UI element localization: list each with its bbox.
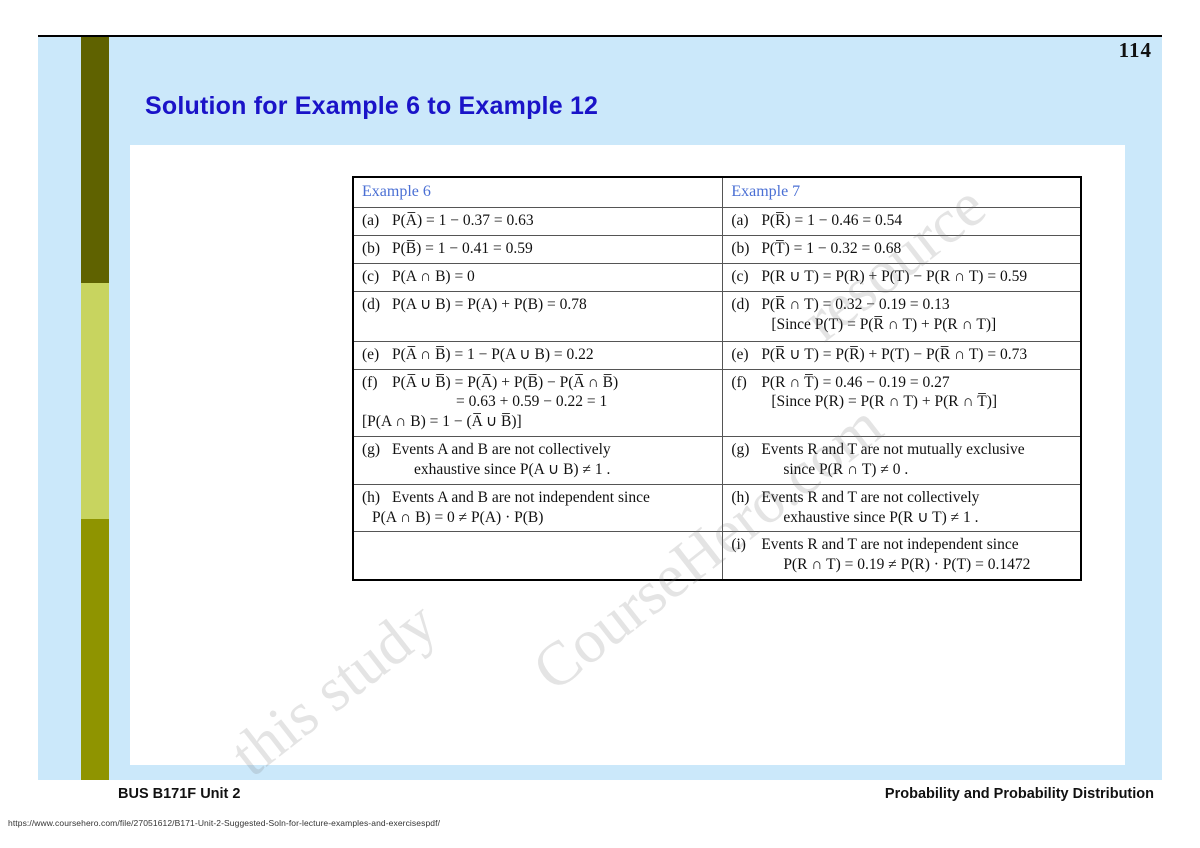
formula-line: P(A̅ ∩ B̅) = 1 − P(A ∪ B) = 0.22 (392, 346, 594, 363)
source-url-text: https://www.coursehero.com/file/27051612… (8, 818, 440, 828)
footer-course-label: BUS B171F Unit 2 (118, 786, 240, 802)
text-line: exhaustive since P(A ∪ B) ≠ 1 . (392, 460, 716, 480)
table-row: (i) Events R and T are not independent s… (353, 532, 1081, 580)
formula-line: [P(A ∩ B) = 1 − (A̅ ∪ B̅)] (362, 412, 716, 432)
column-header-example-6: Example 6 (353, 177, 723, 208)
cell-left-g: (g) Events A and B are not collectively … (353, 437, 723, 485)
table-row: (a) P(A̅) = 1 − 0.37 = 0.63 (a) P(R̅) = … (353, 208, 1081, 236)
table-row: (h) Events A and B are not independent s… (353, 484, 1081, 532)
item-label: (d) (362, 295, 392, 315)
cell-left-f: (f) P(A̅ ∪ B̅) = P(A̅) + P(B̅) − P(A̅ ∩ … (353, 369, 723, 436)
page-title: Solution for Example 6 to Example 12 (145, 92, 598, 121)
top-rule-divider (38, 35, 1162, 37)
item-label: (i) (731, 535, 761, 555)
formula-line: P(A ∪ B) = P(A) + P(B) = 0.78 (392, 295, 716, 315)
sidebar-bar-middle (81, 283, 109, 519)
text-line: exhaustive since P(R ∪ T) ≠ 1 . (761, 508, 1074, 528)
formula-line: [Since P(R) = P(R ∩ T) + P(R ∩ T̅)] (761, 392, 1074, 412)
cell-left-a: (a) P(A̅) = 1 − 0.37 = 0.63 (353, 208, 723, 236)
footer-topic-label: Probability and Probability Distribution (885, 786, 1154, 802)
formula-line: P(R ∩ T̅) = 0.46 − 0.19 = 0.27 (761, 373, 1074, 393)
content-panel: Example 6 Example 7 (a) P(A̅) = 1 − 0.37… (130, 145, 1125, 765)
table-row: (b) P(B̅) = 1 − 0.41 = 0.59 (b) P(T̅) = … (353, 236, 1081, 264)
cell-left-c: (c) P(A ∩ B) = 0 (353, 264, 723, 292)
formula-line: P(A ∩ B) = 0 ≠ P(A) · P(B) (362, 508, 716, 528)
formula-line: P(B̅) = 1 − 0.41 = 0.59 (392, 240, 533, 257)
cell-right-g: (g) Events R and T are not mutually excl… (723, 437, 1081, 485)
column-header-example-7: Example 7 (723, 177, 1081, 208)
formula-line: P(A̅) = 1 − 0.37 = 0.63 (392, 212, 534, 229)
text-line: Events A and B are not independent since (392, 488, 716, 508)
text-line: Events A and B are not collectively (392, 440, 716, 460)
formula-line: [Since P(T) = P(R̅ ∩ T) + P(R ∩ T)] (761, 315, 1074, 335)
item-label: (c) (362, 267, 392, 287)
item-label: (g) (731, 440, 761, 460)
formula-line: = 0.63 + 0.59 − 0.22 = 1 (392, 392, 716, 412)
cell-left-e: (e) P(A̅ ∩ B̅) = 1 − P(A ∪ B) = 0.22 (353, 341, 723, 369)
cell-left-empty (353, 532, 723, 580)
cell-spacer (392, 315, 716, 337)
item-label: (e) (731, 345, 761, 365)
table-header-row: Example 6 Example 7 (353, 177, 1081, 208)
page-number: 114 (1119, 38, 1152, 63)
item-label: (b) (731, 239, 761, 259)
formula-line: P(R ∩ T) = 0.19 ≠ P(R) · P(T) = 0.1472 (761, 555, 1074, 575)
text-line: Events R and T are not collectively (761, 488, 1074, 508)
formula-line: P(R̅ ∪ T) = P(R̅) + P(T) − P(R̅ ∩ T) = 0… (761, 346, 1027, 363)
item-label: (a) (731, 211, 761, 231)
cell-right-i: (i) Events R and T are not independent s… (723, 532, 1081, 580)
formula-line: P(A ∩ B) = 0 (392, 268, 475, 285)
item-label: (h) (731, 488, 761, 508)
cell-right-a: (a) P(R̅) = 1 − 0.46 = 0.54 (723, 208, 1081, 236)
item-label: (a) (362, 211, 392, 231)
table-row: (f) P(A̅ ∪ B̅) = P(A̅) + P(B̅) − P(A̅ ∩ … (353, 369, 1081, 436)
item-label: (h) (362, 488, 392, 508)
item-label: (f) (731, 373, 761, 393)
item-label: (f) (362, 373, 392, 393)
sidebar-bar-top (81, 37, 109, 283)
cell-left-h: (h) Events A and B are not independent s… (353, 484, 723, 532)
item-label: (c) (731, 267, 761, 287)
item-label: (b) (362, 239, 392, 259)
formula-line: P(R ∪ T) = P(R) + P(T) − P(R ∩ T) = 0.59 (761, 268, 1027, 285)
cell-right-e: (e) P(R̅ ∪ T) = P(R̅) + P(T) − P(R̅ ∩ T)… (723, 341, 1081, 369)
formula-line: P(T̅) = 1 − 0.32 = 0.68 (761, 240, 901, 257)
cell-left-b: (b) P(B̅) = 1 − 0.41 = 0.59 (353, 236, 723, 264)
table-row: (e) P(A̅ ∩ B̅) = 1 − P(A ∪ B) = 0.22 (e)… (353, 341, 1081, 369)
item-label: (d) (731, 295, 761, 315)
cell-right-f: (f) P(R ∩ T̅) = 0.46 − 0.19 = 0.27 [Sinc… (723, 369, 1081, 436)
cell-right-c: (c) P(R ∪ T) = P(R) + P(T) − P(R ∩ T) = … (723, 264, 1081, 292)
solutions-table: Example 6 Example 7 (a) P(A̅) = 1 − 0.37… (352, 176, 1082, 581)
cell-right-d: (d) P(R̅ ∩ T) = 0.32 − 0.19 = 0.13 [Sinc… (723, 291, 1081, 341)
formula-line: P(R̅) = 1 − 0.46 = 0.54 (761, 212, 902, 229)
cell-right-b: (b) P(T̅) = 1 − 0.32 = 0.68 (723, 236, 1081, 264)
item-label: (e) (362, 345, 392, 365)
table-row: (g) Events A and B are not collectively … (353, 437, 1081, 485)
sidebar-color-bars (81, 37, 109, 780)
table-row: (d) P(A ∪ B) = P(A) + P(B) = 0.78 (d) P(… (353, 291, 1081, 341)
formula-line: P(A̅ ∪ B̅) = P(A̅) + P(B̅) − P(A̅ ∩ B̅) (392, 373, 716, 393)
formula-line: P(R̅ ∩ T) = 0.32 − 0.19 = 0.13 (761, 295, 1074, 315)
table-row: (c) P(A ∩ B) = 0 (c) P(R ∪ T) = P(R) + P… (353, 264, 1081, 292)
text-line: Events R and T are not independent since (761, 535, 1074, 555)
item-label: (g) (362, 440, 392, 460)
cell-left-d: (d) P(A ∪ B) = P(A) + P(B) = 0.78 (353, 291, 723, 341)
sidebar-bar-bottom (81, 519, 109, 780)
cell-right-h: (h) Events R and T are not collectively … (723, 484, 1081, 532)
text-line: Events R and T are not mutually exclusiv… (761, 440, 1074, 460)
text-line: since P(R ∩ T) ≠ 0 . (761, 460, 1074, 480)
